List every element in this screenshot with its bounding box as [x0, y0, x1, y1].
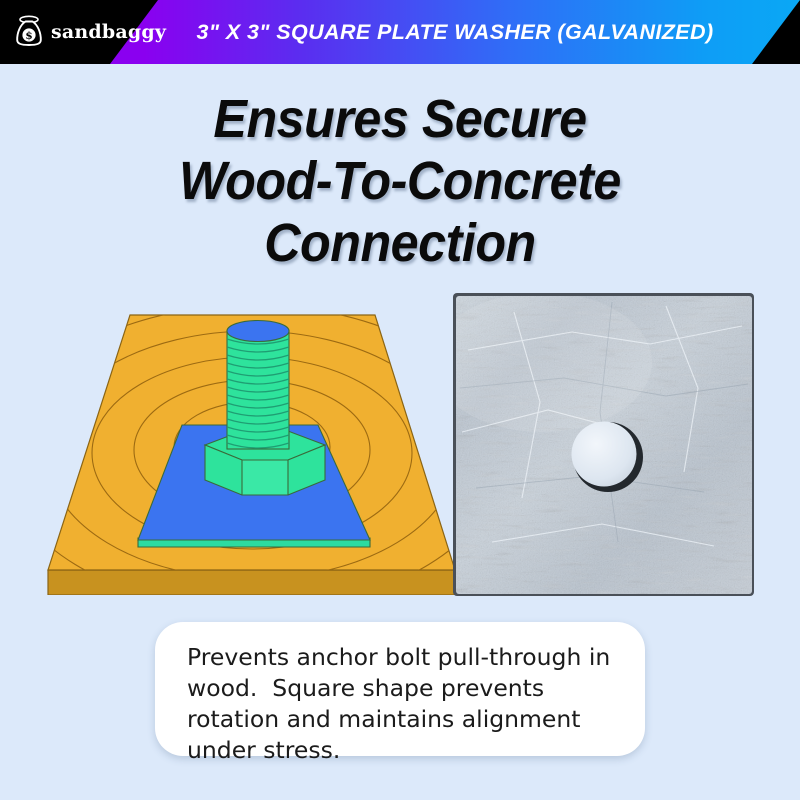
brand-name: sandbaggy	[51, 21, 166, 43]
headline-line-3: Connection	[28, 212, 772, 274]
galvanized-square-plate-washer-photo	[452, 292, 756, 598]
svg-text:$: $	[25, 30, 32, 42]
bolt-top-cap	[227, 321, 289, 342]
headline-line-2: Wood-To-Concrete	[28, 150, 772, 212]
wood-bolt-washer-illustration	[30, 295, 470, 595]
caption-text: Prevents anchor bolt pull-through in woo…	[187, 642, 615, 766]
page-title: Ensures Secure Wood-To-Concrete Connecti…	[28, 88, 772, 274]
bolt-shaft	[227, 331, 289, 449]
header-bar: $ sandbaggy 3" x 3" Square Plate Washer …	[0, 0, 800, 64]
wood-front-edge	[48, 570, 455, 595]
hex-nut-side-front	[242, 460, 288, 495]
headline-line-1: Ensures Secure	[28, 88, 772, 150]
product-infographic: $ sandbaggy 3" x 3" Square Plate Washer …	[0, 0, 800, 800]
caption-card: Prevents anchor bolt pull-through in woo…	[155, 622, 645, 756]
sandbag-icon: $	[14, 13, 44, 52]
brand-logo[interactable]: $ sandbaggy	[14, 0, 166, 64]
